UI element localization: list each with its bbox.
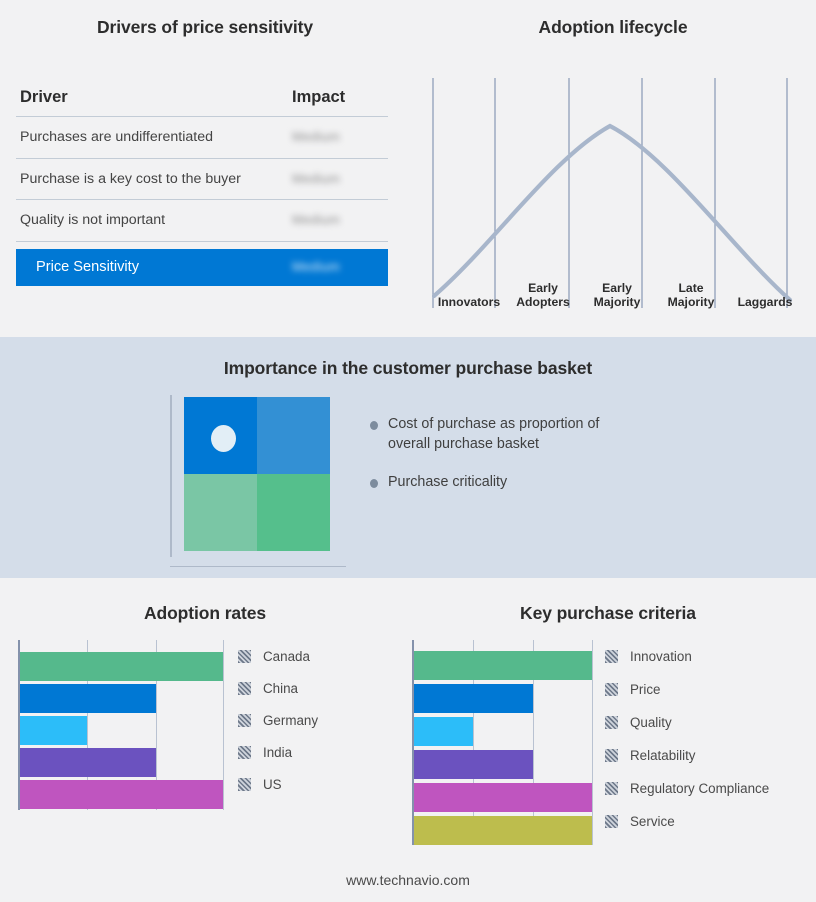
bar-china [20,684,156,713]
bar-germany [20,716,87,745]
legend-label: China [263,681,298,696]
legend-label: India [263,745,292,760]
quadrant-top-left [184,397,257,474]
purchase-basket-title: Importance in the customer purchase bask… [0,358,816,379]
bar-india [20,748,156,777]
bar-relatability [414,750,533,779]
table-row: Purchase is a key cost to the buyer Medi… [16,159,388,201]
quadrant-position-marker [211,425,236,452]
table-header-row: Driver Impact [16,88,388,117]
summary-label: Price Sensitivity [36,259,292,275]
legend-bullet-icon [370,479,378,488]
hatch-swatch-icon [605,650,618,663]
quadrant-bottom-right [257,474,330,551]
adoption-rates-plot [18,640,223,810]
stage-line1: Early [528,281,558,295]
legend-item: Cost of purchase as proportion of overal… [370,415,670,454]
drivers-table: Driver Impact Purchases are undifferenti… [16,88,388,286]
impact-value: Medium [292,212,340,227]
column-header-impact: Impact [292,88,384,107]
stage-line2: Innovators [438,295,500,309]
stage-label-early-adopters: Early Adopters [506,272,580,312]
hatch-swatch-icon [605,815,618,828]
impact-value-cell: Medium [292,128,384,146]
hatch-swatch-icon [238,650,251,663]
impact-value-cell: Medium [292,211,384,229]
stage-label-innovators: Innovators [432,272,506,312]
driver-label: Purchase is a key cost to the buyer [20,171,292,187]
purchase-basket-panel: Importance in the customer purchase bask… [0,337,816,578]
bar-service [414,816,592,845]
hatch-swatch-icon [605,716,618,729]
hatch-swatch-icon [238,682,251,695]
hatch-swatch-icon [605,683,618,696]
legend-label: Innovation [630,649,692,664]
gridline [592,640,593,845]
legend-label: Quality [630,715,672,730]
adoption-lifecycle-panel: Adoption lifecycle Innovators Early Adop… [410,0,816,337]
adoption-rates-legend: CanadaChinaGermanyIndiaUS [238,640,318,800]
summary-impact-cell: Medium [292,258,384,276]
legend-item[interactable]: Canada [238,640,318,672]
stage-line1: Early [602,281,632,295]
driver-label: Quality is not important [20,212,292,228]
legend-label: Cost of purchase as proportion of overal… [388,415,638,454]
price-sensitivity-summary-row: Price Sensitivity Medium [16,249,388,286]
bar-innovation [414,651,592,680]
quadrant-y-axis [170,395,172,557]
impact-value: Medium [292,171,340,186]
stage-line1: Late [678,281,703,295]
legend-item: Purchase criticality [370,473,670,493]
summary-impact-value: Medium [292,259,340,274]
hatch-swatch-icon [238,778,251,791]
legend-label: Service [630,814,675,829]
key-purchase-criteria-title: Key purchase criteria [400,603,816,624]
key-purchase-criteria-plot [412,640,592,845]
legend-item[interactable]: Germany [238,704,318,736]
bar-price [414,684,533,713]
stage-label-early-majority: Early Majority [580,272,654,312]
legend-item[interactable]: Regulatory Compliance [605,772,769,805]
legend-label: Regulatory Compliance [630,781,769,796]
key-purchase-criteria-legend: InnovationPriceQualityRelatabilityRegula… [605,640,769,838]
hatch-swatch-icon [238,714,251,727]
legend-item[interactable]: US [238,768,318,800]
legend-item[interactable]: Innovation [605,640,769,673]
column-header-driver: Driver [20,88,292,107]
drivers-title: Drivers of price sensitivity [0,17,410,38]
stage-label-laggards: Laggards [728,272,802,312]
table-row: Quality is not important Medium [16,200,388,242]
bar-canada [20,652,223,681]
stage-line2: Majority [668,295,715,309]
purchase-basket-legend: Cost of purchase as proportion of overal… [370,415,670,512]
quadrant-grid [184,397,330,551]
stage-line2: Majority [594,295,641,309]
stage-label-late-majority: Late Majority [654,272,728,312]
gridline [223,640,224,810]
stage-line2: Adopters [516,295,570,309]
lifecycle-stage-labels: Innovators Early Adopters Early Majority… [432,272,802,312]
table-row: Purchases are undifferentiated Medium [16,117,388,159]
drivers-panel: Drivers of price sensitivity Driver Impa… [0,0,410,337]
quadrant-top-right [257,397,330,474]
legend-label: Purchase criticality [388,473,507,493]
adoption-rates-panel: Adoption rates CanadaChinaGermanyIndiaUS [0,578,410,902]
hatch-swatch-icon [605,749,618,762]
hatch-swatch-icon [605,782,618,795]
quadrant-chart [170,395,346,567]
legend-label: Price [630,682,661,697]
legend-item[interactable]: India [238,736,318,768]
stage-line2: Laggards [738,295,793,309]
legend-label: Relatability [630,748,696,763]
legend-item[interactable]: Relatability [605,739,769,772]
adoption-rates-title: Adoption rates [0,603,410,624]
impact-value-cell: Medium [292,170,384,188]
legend-bullet-icon [370,421,378,430]
bar-us [20,780,223,809]
legend-item[interactable]: Quality [605,706,769,739]
quadrant-bottom-left [184,474,257,551]
quadrant-x-axis [170,566,346,568]
bar-quality [414,717,473,746]
legend-item[interactable]: Price [605,673,769,706]
impact-value: Medium [292,129,340,144]
legend-item[interactable]: Service [605,805,769,838]
bar-regulatory-compliance [414,783,592,812]
key-purchase-criteria-panel: Key purchase criteria InnovationPriceQua… [400,578,816,902]
hatch-swatch-icon [238,746,251,759]
legend-label: US [263,777,282,792]
driver-label: Purchases are undifferentiated [20,129,292,145]
legend-item[interactable]: China [238,672,318,704]
footer-url: www.technavio.com [0,872,816,888]
legend-label: Germany [263,713,318,728]
legend-label: Canada [263,649,310,664]
adoption-lifecycle-title: Adoption lifecycle [410,17,816,38]
